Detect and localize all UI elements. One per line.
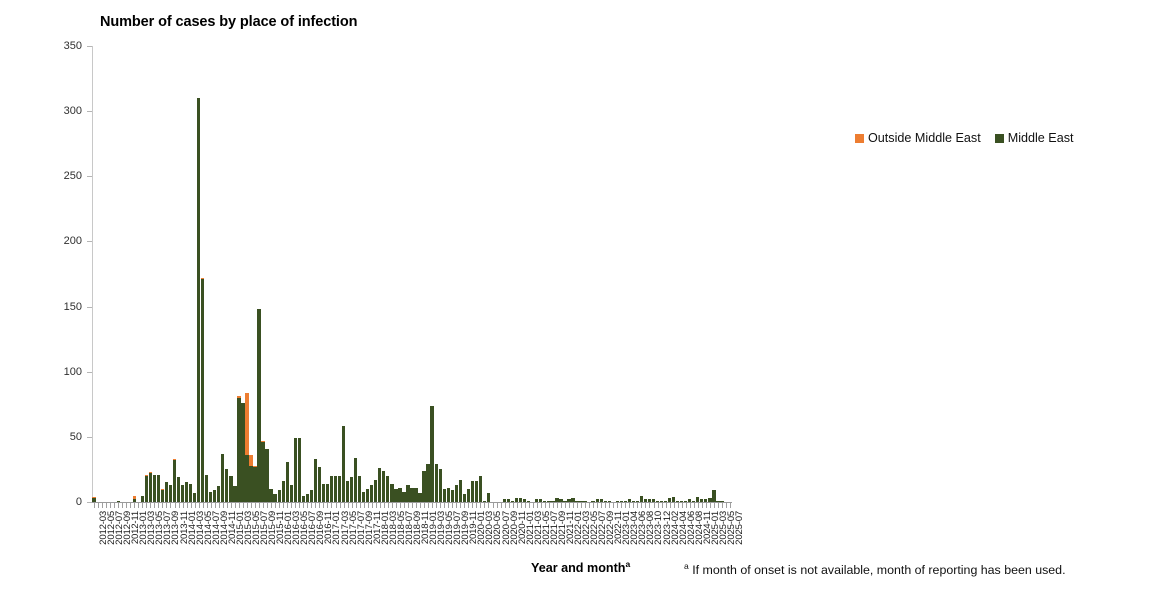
bar-segment-middle-east	[298, 438, 301, 502]
bar-segment-middle-east	[435, 464, 438, 502]
x-tick-mark	[331, 503, 332, 508]
bar-segment-middle-east	[636, 501, 639, 502]
bar-segment-middle-east	[390, 484, 393, 502]
bar-2014-01[interactable]	[181, 485, 184, 502]
bar-2019-10[interactable]	[459, 480, 462, 502]
x-tick-mark	[456, 503, 457, 508]
x-tick-mark	[295, 503, 296, 508]
bar-2017-01[interactable]	[326, 484, 329, 502]
bar-2016-05[interactable]	[294, 438, 297, 502]
bar-segment-middle-east	[632, 501, 635, 502]
bar-2013-06[interactable]	[153, 475, 156, 502]
bar-2015-01[interactable]	[229, 476, 232, 502]
x-tick-mark	[718, 503, 719, 508]
bar-2017-12[interactable]	[370, 485, 373, 502]
bar-2024-07[interactable]	[684, 501, 687, 502]
x-tick-mark	[408, 503, 409, 508]
y-tick-label: 0	[42, 496, 82, 508]
bar-segment-middle-east	[704, 499, 707, 502]
x-tick-mark	[323, 503, 324, 508]
bar-segment-middle-east	[181, 485, 184, 502]
x-tick-mark	[617, 503, 618, 508]
bar-segment-middle-east	[225, 469, 228, 502]
x-tick-mark	[460, 503, 461, 508]
x-tick-mark	[400, 503, 401, 508]
x-tick-mark	[706, 503, 707, 508]
bar-2024-05[interactable]	[676, 501, 679, 502]
bar-2021-07[interactable]	[543, 501, 546, 502]
bar-segment-middle-east	[443, 489, 446, 502]
bar-2014-10[interactable]	[217, 486, 220, 502]
x-tick-mark	[637, 503, 638, 508]
bar-2024-04[interactable]	[672, 497, 675, 502]
bar-2017-03[interactable]	[334, 476, 337, 502]
bar-2022-04[interactable]	[579, 501, 582, 502]
bar-2022-10[interactable]	[604, 501, 607, 502]
bar-segment-middle-east	[523, 499, 526, 502]
bar-2017-09[interactable]	[358, 476, 361, 502]
bar-2014-11[interactable]	[221, 454, 224, 502]
bar-2014-09[interactable]	[213, 490, 216, 502]
bar-segment-middle-east	[620, 501, 623, 502]
bar-segment-middle-east	[720, 501, 723, 502]
bar-2016-04[interactable]	[290, 485, 293, 502]
bar-segment-middle-east	[483, 501, 486, 502]
bar-2023-09[interactable]	[644, 499, 647, 502]
x-tick-mark	[122, 503, 123, 508]
bar-segment-middle-east	[366, 489, 369, 502]
bar-2014-06[interactable]	[201, 278, 204, 502]
bar-2024-09[interactable]	[692, 501, 695, 502]
bar-segment-middle-east	[551, 501, 554, 502]
bar-2018-06[interactable]	[394, 489, 397, 502]
bar-2013-11[interactable]	[173, 459, 176, 502]
bar-2012-03[interactable]	[92, 497, 95, 502]
bar-2016-11[interactable]	[318, 467, 321, 502]
x-tick-mark	[597, 503, 598, 508]
bar-segment-outside-middle-east	[92, 497, 95, 498]
bar-2013-03[interactable]	[141, 496, 144, 503]
bar-2018-05[interactable]	[390, 484, 393, 502]
bar-2016-12[interactable]	[322, 484, 325, 502]
bar-2018-02[interactable]	[378, 468, 381, 502]
bar-2018-04[interactable]	[386, 476, 389, 502]
y-tick-100: 100	[42, 372, 87, 384]
bar-2013-08[interactable]	[161, 489, 164, 502]
bar-segment-outside-middle-east	[133, 496, 136, 500]
bar-2017-02[interactable]	[330, 476, 333, 502]
bar-2017-04[interactable]	[338, 476, 341, 502]
bar-2012-09[interactable]	[117, 501, 120, 502]
bar-2019-06[interactable]	[443, 489, 446, 502]
x-tick-mark	[191, 503, 192, 508]
bar-segment-middle-east	[660, 501, 663, 502]
x-tick-mark	[448, 503, 449, 508]
bar-2019-12[interactable]	[467, 489, 470, 502]
bar-2018-10[interactable]	[410, 488, 413, 502]
x-tick-mark	[259, 503, 260, 508]
x-tick-mark	[605, 503, 606, 508]
bar-2024-08[interactable]	[688, 499, 691, 502]
bar-2021-01[interactable]	[519, 498, 522, 502]
x-tick-mark	[424, 503, 425, 508]
bar-2024-06[interactable]	[680, 501, 683, 502]
y-tick-label: 200	[42, 235, 82, 247]
bar-2016-02[interactable]	[282, 481, 285, 502]
bar-2014-05[interactable]	[197, 98, 200, 502]
bar-segment-middle-east	[696, 497, 699, 502]
bar-2025-04[interactable]	[716, 501, 719, 502]
bar-segment-middle-east	[668, 498, 671, 502]
x-tick-mark	[142, 503, 143, 508]
bar-2016-06[interactable]	[298, 438, 301, 502]
bar-2016-07[interactable]	[302, 496, 305, 503]
x-tick-mark	[118, 503, 119, 508]
x-tick-mark	[710, 503, 711, 508]
x-tick-mark	[344, 503, 345, 508]
bar-2018-08[interactable]	[402, 492, 405, 502]
bar-2013-10[interactable]	[169, 485, 172, 502]
bar-2020-01[interactable]	[471, 481, 474, 502]
x-tick-mark	[94, 503, 95, 508]
x-tick-mark	[488, 503, 489, 508]
bar-2014-08[interactable]	[209, 492, 212, 502]
bar-2023-12[interactable]	[656, 501, 659, 502]
bar-2023-02[interactable]	[620, 501, 623, 502]
bar-2021-05[interactable]	[535, 499, 538, 502]
x-tick-mark	[513, 503, 514, 508]
bar-2022-08[interactable]	[596, 499, 599, 502]
x-tick-mark	[199, 503, 200, 508]
bar-2022-07[interactable]	[591, 501, 594, 502]
bar-segment-middle-east	[559, 499, 562, 502]
bar-segment-middle-east	[684, 501, 687, 502]
x-tick-mark	[694, 503, 695, 508]
x-tick-mark	[263, 503, 264, 508]
bar-2025-03[interactable]	[712, 490, 715, 502]
bar-2018-12[interactable]	[418, 493, 421, 502]
bar-segment-middle-east	[680, 501, 683, 502]
bar-2013-01[interactable]	[133, 496, 136, 503]
x-tick-mark	[420, 503, 421, 508]
bar-segment-middle-east	[511, 501, 514, 502]
y-tick-label: 300	[42, 105, 82, 117]
bar-2020-09[interactable]	[503, 499, 506, 502]
bar-2016-09[interactable]	[310, 490, 313, 502]
bar-2018-11[interactable]	[414, 488, 417, 502]
bar-2013-12[interactable]	[177, 477, 180, 502]
bar-2024-03[interactable]	[668, 498, 671, 502]
bar-2023-10[interactable]	[648, 499, 651, 502]
x-tick-mark	[251, 503, 252, 508]
bar-2019-11[interactable]	[463, 494, 466, 502]
legend-item[interactable]: Outside Middle East	[855, 131, 981, 145]
bar-2023-11[interactable]	[652, 499, 655, 502]
bar-2025-05[interactable]	[720, 501, 723, 502]
y-tick-label: 250	[42, 170, 82, 182]
x-tick-mark	[678, 503, 679, 508]
x-tick-mark	[565, 503, 566, 508]
bar-2015-02[interactable]	[233, 486, 236, 502]
x-tick-mark	[138, 503, 139, 508]
bar-segment-middle-east	[608, 501, 611, 502]
x-tick-mark	[412, 503, 413, 508]
bar-2017-06[interactable]	[346, 481, 349, 502]
bar-2013-09[interactable]	[165, 482, 168, 502]
bar-2022-11[interactable]	[608, 501, 611, 502]
x-tick-mark	[179, 503, 180, 508]
bar-segment-middle-east	[286, 462, 289, 502]
bar-2013-07[interactable]	[157, 475, 160, 502]
y-tick-250: 250	[42, 176, 87, 188]
bar-2020-04[interactable]	[483, 501, 486, 502]
bar-segment-middle-east	[322, 484, 325, 502]
legend-item[interactable]: Middle East	[995, 131, 1074, 145]
x-tick-mark	[561, 503, 562, 508]
bar-2017-08[interactable]	[354, 458, 357, 502]
bar-segment-middle-east	[278, 490, 281, 502]
bar-segment-middle-east	[350, 477, 353, 502]
x-tick-mark	[452, 503, 453, 508]
bar-segment-middle-east	[575, 501, 578, 502]
bar-2020-11[interactable]	[511, 501, 514, 502]
bar-segment-middle-east	[579, 501, 582, 502]
x-tick-mark	[271, 503, 272, 508]
bar-2025-01[interactable]	[704, 499, 707, 502]
y-tick-label: 100	[42, 366, 82, 378]
x-tick-mark	[158, 503, 159, 508]
bar-2021-10[interactable]	[555, 498, 558, 502]
x-tick-mark	[267, 503, 268, 508]
bar-2021-09[interactable]	[551, 501, 554, 502]
bar-2023-05[interactable]	[628, 499, 631, 502]
bar-segment-middle-east	[700, 499, 703, 502]
bar-2020-03[interactable]	[479, 476, 482, 502]
bar-2019-02[interactable]	[426, 464, 429, 502]
x-tick-mark	[239, 503, 240, 508]
bar-2018-09[interactable]	[406, 485, 409, 502]
bar-segment-middle-east	[628, 499, 631, 502]
x-tick-mark	[609, 503, 610, 508]
x-tick-mark	[215, 503, 216, 508]
bar-2016-03[interactable]	[286, 462, 289, 502]
x-tick-mark	[476, 503, 477, 508]
bar-segment-middle-east	[644, 499, 647, 502]
x-tick-mark	[195, 503, 196, 508]
x-tick-mark	[247, 503, 248, 508]
x-tick-mark	[629, 503, 630, 508]
bar-segment-middle-east	[398, 488, 401, 502]
x-tick-mark	[336, 503, 337, 508]
legend-label: Outside Middle East	[868, 131, 981, 145]
bar-segment-middle-east	[282, 481, 285, 502]
bar-2021-03[interactable]	[527, 501, 530, 502]
x-tick-mark	[114, 503, 115, 508]
bar-2014-07[interactable]	[205, 475, 208, 502]
bar-2022-05[interactable]	[583, 501, 586, 502]
bar-2015-04[interactable]	[241, 403, 244, 502]
bar-segment-middle-east	[591, 501, 594, 502]
bar-2023-07[interactable]	[636, 501, 639, 502]
bar-segment-middle-east	[422, 471, 425, 502]
bar-2015-10[interactable]	[265, 449, 268, 502]
bar-segment-middle-east	[145, 476, 148, 502]
x-tick-mark	[154, 503, 155, 508]
x-tick-mark	[102, 503, 103, 508]
x-tick-mark	[436, 503, 437, 508]
bar-2015-06[interactable]	[249, 455, 252, 502]
bar-2019-01[interactable]	[422, 471, 425, 502]
bar-segment-middle-east	[229, 476, 232, 502]
bar-2019-09[interactable]	[455, 485, 458, 502]
x-tick-mark	[601, 503, 602, 508]
bar-2020-10[interactable]	[507, 499, 510, 502]
bar-2013-04[interactable]	[145, 475, 148, 502]
bar-2024-01[interactable]	[660, 501, 663, 502]
x-tick-mark	[645, 503, 646, 508]
bar-2014-12[interactable]	[225, 469, 228, 502]
bar-segment-outside-middle-east	[145, 475, 148, 476]
bar-segment-middle-east	[233, 486, 236, 502]
bar-2023-01[interactable]	[616, 501, 619, 502]
bar-2019-03[interactable]	[430, 406, 433, 502]
bar-segment-middle-east	[519, 498, 522, 502]
bar-segment-middle-east	[447, 488, 450, 502]
bar-segment-middle-east	[197, 98, 200, 502]
bar-2014-02[interactable]	[185, 482, 188, 502]
bar-2015-08[interactable]	[257, 309, 260, 502]
x-tick-mark	[589, 503, 590, 508]
bar-2016-01[interactable]	[278, 490, 281, 502]
x-tick-mark	[106, 503, 107, 508]
x-tick-mark	[521, 503, 522, 508]
bar-2023-08[interactable]	[640, 496, 643, 503]
bar-2015-12[interactable]	[273, 494, 276, 502]
bar-2015-03[interactable]	[237, 396, 240, 502]
x-tick-mark	[545, 503, 546, 508]
bar-2016-10[interactable]	[314, 459, 317, 502]
bar-2015-07[interactable]	[253, 466, 256, 502]
bar-2014-03[interactable]	[189, 484, 192, 502]
bar-2022-01[interactable]	[567, 499, 570, 502]
bar-segment-middle-east	[539, 499, 542, 502]
bar-2021-08[interactable]	[547, 501, 550, 502]
bar-segment-middle-east	[616, 501, 619, 502]
bar-segment-middle-east	[245, 455, 248, 502]
bar-2020-12[interactable]	[515, 498, 518, 502]
x-tick-mark	[428, 503, 429, 508]
bar-2021-06[interactable]	[539, 499, 542, 502]
bar-segment-middle-east	[326, 484, 329, 502]
x-tick-mark	[356, 503, 357, 508]
bar-2022-03[interactable]	[575, 501, 578, 502]
bar-segment-middle-east	[507, 499, 510, 502]
bar-2015-09[interactable]	[261, 441, 264, 502]
x-tick-mark	[207, 503, 208, 508]
bar-2021-12[interactable]	[563, 501, 566, 502]
bar-segment-middle-east	[394, 489, 397, 502]
bar-2023-04[interactable]	[624, 501, 627, 502]
bar-2024-12[interactable]	[700, 499, 703, 502]
bar-2017-11[interactable]	[366, 489, 369, 502]
x-tick-mark	[581, 503, 582, 508]
bar-2018-07[interactable]	[398, 488, 401, 502]
bar-2018-01[interactable]	[374, 480, 377, 502]
bar-2015-05[interactable]	[245, 393, 248, 502]
bar-segment-middle-east	[664, 501, 667, 502]
bar-2025-02[interactable]	[708, 498, 711, 502]
bar-2017-07[interactable]	[350, 477, 353, 502]
x-tick-mark	[98, 503, 99, 508]
y-tick-0: 0	[42, 502, 87, 514]
bar-2019-08[interactable]	[451, 490, 454, 502]
bar-2023-06[interactable]	[632, 501, 635, 502]
x-tick-mark	[440, 503, 441, 508]
bar-2021-11[interactable]	[559, 499, 562, 502]
x-tick-mark	[364, 503, 365, 508]
bar-2017-05[interactable]	[342, 426, 345, 502]
bar-segment-middle-east	[463, 494, 466, 502]
x-tick-mark	[509, 503, 510, 508]
bar-2020-02[interactable]	[475, 481, 478, 502]
x-tick-mark	[307, 503, 308, 508]
bar-2014-04[interactable]	[193, 493, 196, 502]
bar-2018-03[interactable]	[382, 471, 385, 502]
bar-2017-10[interactable]	[362, 492, 365, 502]
x-tick-mark	[255, 503, 256, 508]
x-tick-mark	[549, 503, 550, 508]
x-axis-title-superscript: a	[625, 559, 630, 569]
bar-segment-outside-middle-east	[237, 396, 240, 397]
bar-2022-09[interactable]	[600, 499, 603, 502]
bar-2021-02[interactable]	[523, 499, 526, 502]
x-tick-mark	[150, 503, 151, 508]
bar-segment-middle-east	[273, 494, 276, 502]
bar-2019-07[interactable]	[447, 488, 450, 502]
x-tick-mark	[537, 503, 538, 508]
bar-segment-middle-east	[712, 490, 715, 502]
x-tick-mark	[340, 503, 341, 508]
bar-2024-02[interactable]	[664, 501, 667, 502]
bar-segment-middle-east	[455, 485, 458, 502]
bar-segment-middle-east	[656, 501, 659, 502]
bar-2013-05[interactable]	[149, 472, 152, 502]
y-tick-150: 150	[42, 307, 87, 319]
bar-2019-04[interactable]	[435, 464, 438, 502]
y-tick-label: 350	[42, 40, 82, 52]
x-tick-mark	[517, 503, 518, 508]
bar-segment-middle-east	[600, 499, 603, 502]
bar-segment-middle-east	[386, 476, 389, 502]
x-tick-mark	[227, 503, 228, 508]
y-tick-label: 50	[42, 431, 82, 443]
bar-segment-middle-east	[692, 501, 695, 502]
bar-segment-middle-east	[430, 406, 433, 502]
x-tick-mark	[654, 503, 655, 508]
y-tick-350: 350	[42, 46, 87, 58]
bar-2022-02[interactable]	[571, 498, 574, 502]
bar-2020-05[interactable]	[487, 493, 490, 502]
bar-2015-11[interactable]	[269, 489, 272, 502]
x-tick-mark	[666, 503, 667, 508]
x-tick-mark	[360, 503, 361, 508]
bar-2016-08[interactable]	[306, 494, 309, 502]
bar-segment-middle-east	[318, 467, 321, 502]
chart-footnote: a If month of onset is not available, mo…	[684, 561, 1066, 577]
bar-2024-11[interactable]	[696, 497, 699, 502]
bar-2019-05[interactable]	[439, 469, 442, 502]
bar-segment-middle-east	[290, 485, 293, 502]
